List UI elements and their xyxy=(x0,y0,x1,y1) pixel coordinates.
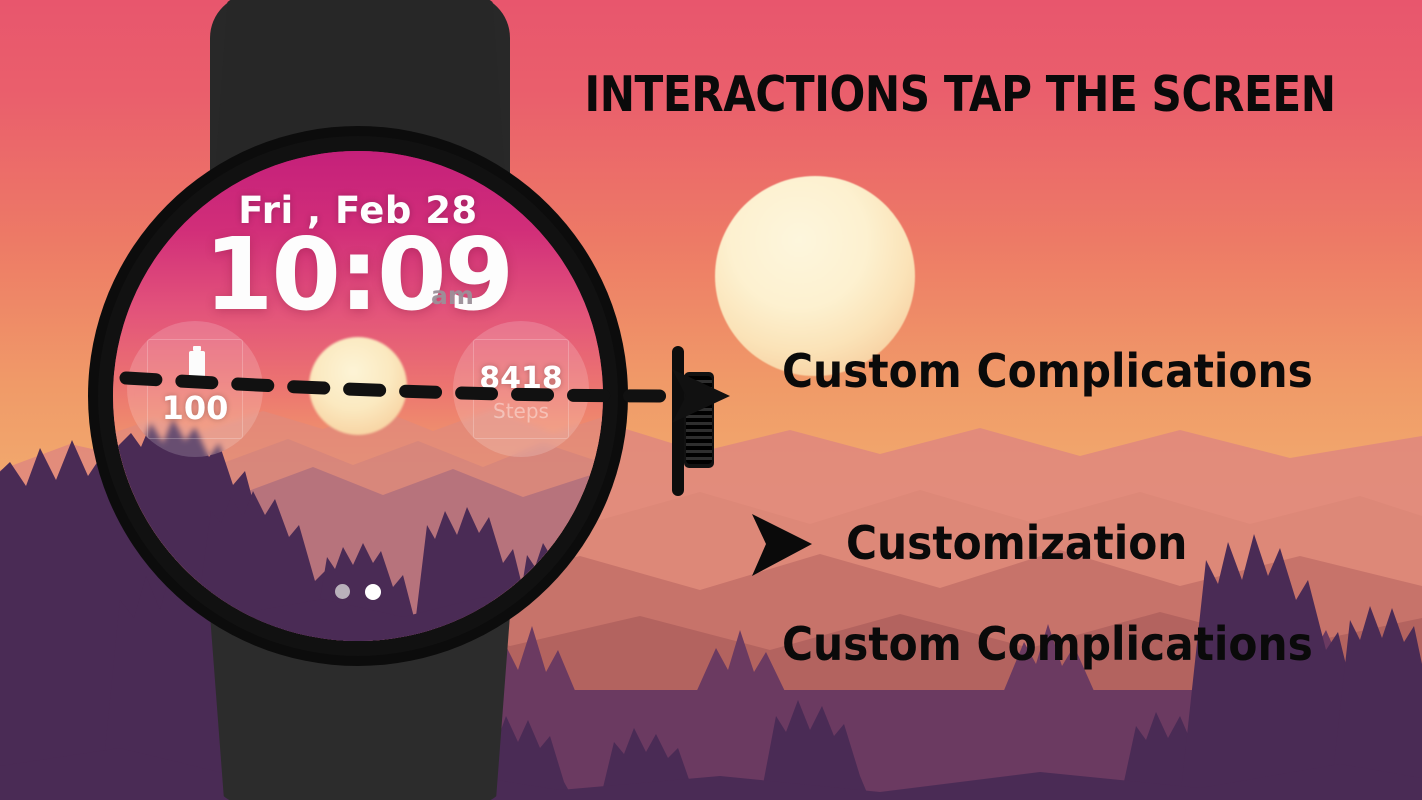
feature-label-custom-complications-2: Custom Complications xyxy=(782,617,1313,671)
battery-icon xyxy=(189,351,205,381)
crown-stem xyxy=(672,346,684,496)
page-title: INTERACTIONS TAP THE SCREEN xyxy=(582,66,1339,123)
page-dot-inactive[interactable] xyxy=(335,584,350,599)
complication-battery[interactable]: 100 xyxy=(127,321,263,457)
steps-label: Steps xyxy=(453,399,589,423)
feature-label-custom-complications-1: Custom Complications xyxy=(782,344,1313,398)
watch-meridiem: am xyxy=(431,281,474,310)
battery-cap-icon xyxy=(193,346,201,351)
watch-face-sun xyxy=(309,337,407,435)
watch-time: 10:09 xyxy=(113,223,603,327)
battery-value: 100 xyxy=(127,389,263,427)
complication-steps[interactable]: 8418 Steps xyxy=(453,321,589,457)
page-dot-active[interactable] xyxy=(365,584,381,600)
steps-value: 8418 xyxy=(453,361,589,396)
feature-label-customization: Customization xyxy=(846,516,1187,570)
promo-banner: Fri , Feb 28 10:09 am 100 8418 Steps xyxy=(0,0,1422,800)
watch-face-screen[interactable]: Fri , Feb 28 10:09 am 100 8418 Steps xyxy=(113,151,603,641)
crown-ridges-icon xyxy=(686,376,712,464)
page-indicator[interactable] xyxy=(113,583,603,601)
smartwatch: Fri , Feb 28 10:09 am 100 8418 Steps xyxy=(88,0,628,800)
